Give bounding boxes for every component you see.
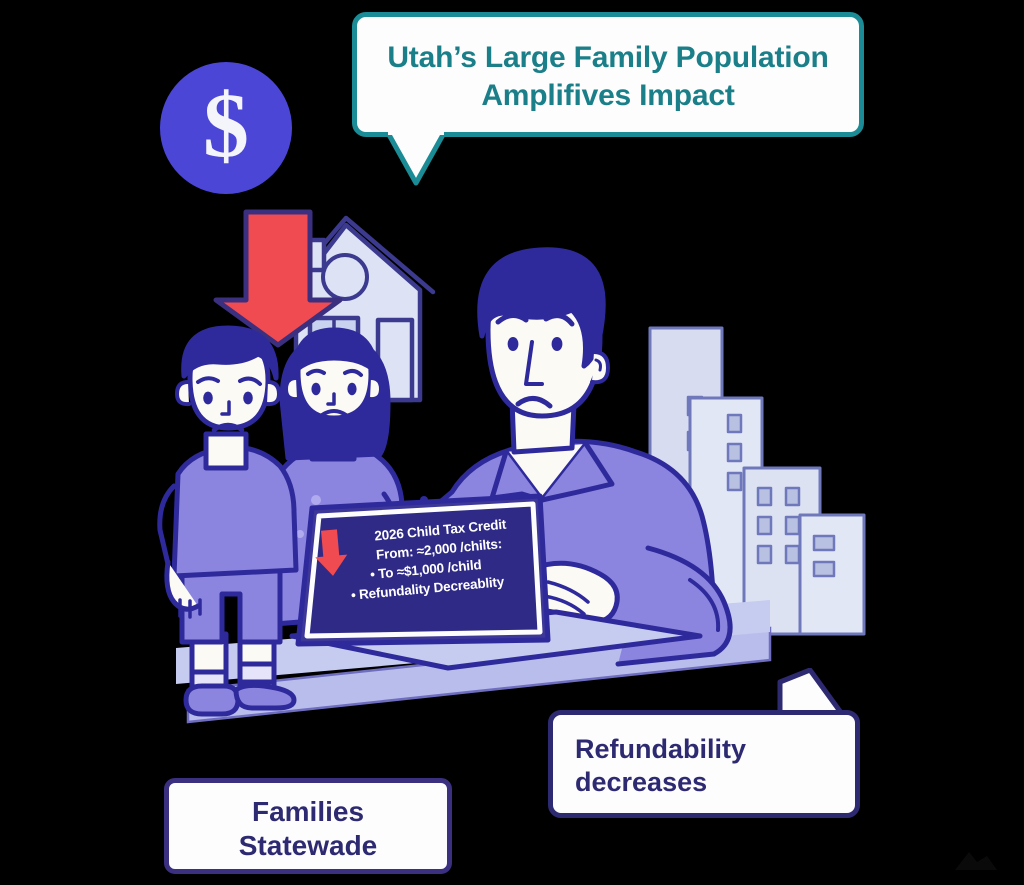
families-line-1: Families: [169, 795, 447, 829]
refundability-line-2: decreases: [575, 766, 855, 799]
refundability-speech-bubble: Refundability decreases: [548, 710, 860, 818]
red-down-arrow-icon: [216, 212, 340, 345]
dollar-coin-icon: $: [160, 62, 292, 194]
laptop-screen-text: 2026 Child Tax Credit From: ≈2,000 /chil…: [313, 512, 541, 653]
city-buildings-icon: [650, 328, 864, 634]
families-line-2: Statewade: [169, 829, 447, 863]
headline-text: Utah’s Large Family Population Amplifive…: [357, 17, 859, 116]
refundability-text: Refundability decreases: [553, 715, 855, 799]
watermark-icon: [955, 852, 997, 870]
house-icon: [283, 218, 433, 400]
headline-speech-bubble: Utah’s Large Family Population Amplifive…: [352, 12, 864, 137]
illustration-canvas: 2026 Child Tax Credit From: ≈2,000 /chil…: [0, 0, 1024, 885]
refundability-line-1: Refundability: [575, 733, 855, 766]
families-text: Families Statewade: [169, 783, 447, 862]
dollar-sign-glyph: $: [203, 79, 249, 171]
families-statewide-label: Families Statewade: [164, 778, 452, 874]
headline-bubble-tail: [386, 131, 448, 187]
headline-line-2: Amplifives Impact: [375, 77, 841, 115]
headline-line-1: Utah’s Large Family Population: [375, 39, 841, 77]
boy-child-figure: [160, 328, 296, 714]
